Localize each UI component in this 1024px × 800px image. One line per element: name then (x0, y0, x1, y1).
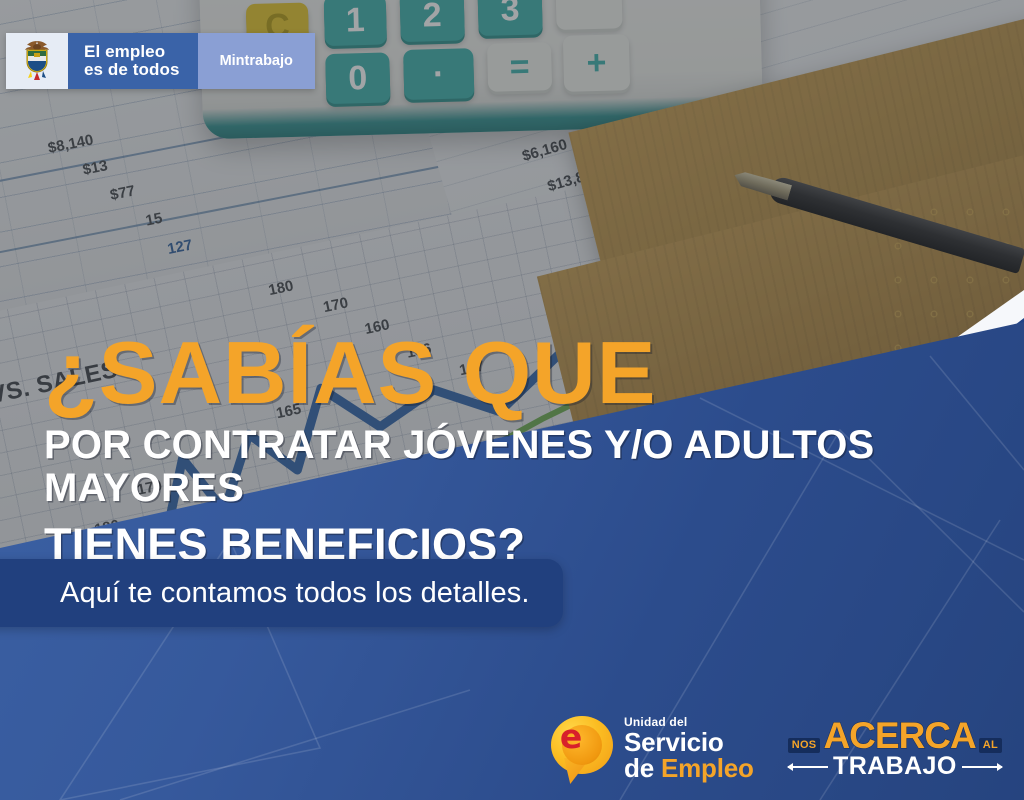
headline-line-1: ¿SABÍAS QUE (44, 330, 984, 416)
headline-block: ¿SABÍAS QUE POR CONTRATAR JÓVENES Y/O AD… (44, 330, 984, 569)
unidad-line-3-orange: Empleo (661, 753, 754, 783)
gov-main-label: El empleo es de todos (84, 43, 180, 79)
unidad-line-2: Servicio (624, 729, 754, 756)
pin-letter: e (551, 716, 591, 756)
unidad-servicio-empleo-logo: e Unidad del Servicio de Empleo (551, 716, 754, 782)
acerca-chip-al: AL (979, 738, 1002, 753)
acerca-dash-right (962, 766, 1002, 768)
gov-sub-label: Mintrabajo (220, 53, 293, 69)
speech-bubble-pin-icon: e (551, 716, 613, 782)
unidad-line-3: de Empleo (624, 755, 754, 782)
headline-line-2: POR CONTRATAR JÓVENES Y/O ADULTOS MAYORE… (44, 424, 984, 510)
gov-main-label-box: El empleo es de todos (68, 33, 198, 89)
cta-label: Aquí te contamos todos los detalles. (60, 577, 529, 610)
footer-logos: e Unidad del Servicio de Empleo NOS ACER… (551, 716, 1002, 782)
nos-acerca-al-trabajo-logo: NOS ACERCA AL TRABAJO (788, 719, 1002, 779)
crest-svg (17, 38, 57, 84)
acerca-dash-left (788, 766, 828, 768)
cta-banner[interactable]: Aquí te contamos todos los detalles. (0, 559, 563, 627)
colombia-coat-of-arms-icon (6, 33, 68, 89)
unidad-logo-text: Unidad del Servicio de Empleo (624, 716, 754, 781)
gov-sub-label-box: Mintrabajo (198, 33, 315, 89)
acerca-chip-nos: NOS (788, 738, 821, 753)
acerca-row-bottom: TRABAJO (788, 754, 1002, 779)
promo-banner: $8,140 $13 $77 15 127 87 90 110 120 $8,5… (0, 0, 1024, 800)
acerca-big-word: ACERCA (823, 719, 975, 753)
unidad-line-3-white: de (624, 753, 661, 783)
acerca-bottom-word: TRABAJO (833, 754, 957, 779)
acerca-row-top: NOS ACERCA AL (788, 719, 1002, 753)
government-header-bar: El empleo es de todos Mintrabajo (6, 33, 315, 89)
